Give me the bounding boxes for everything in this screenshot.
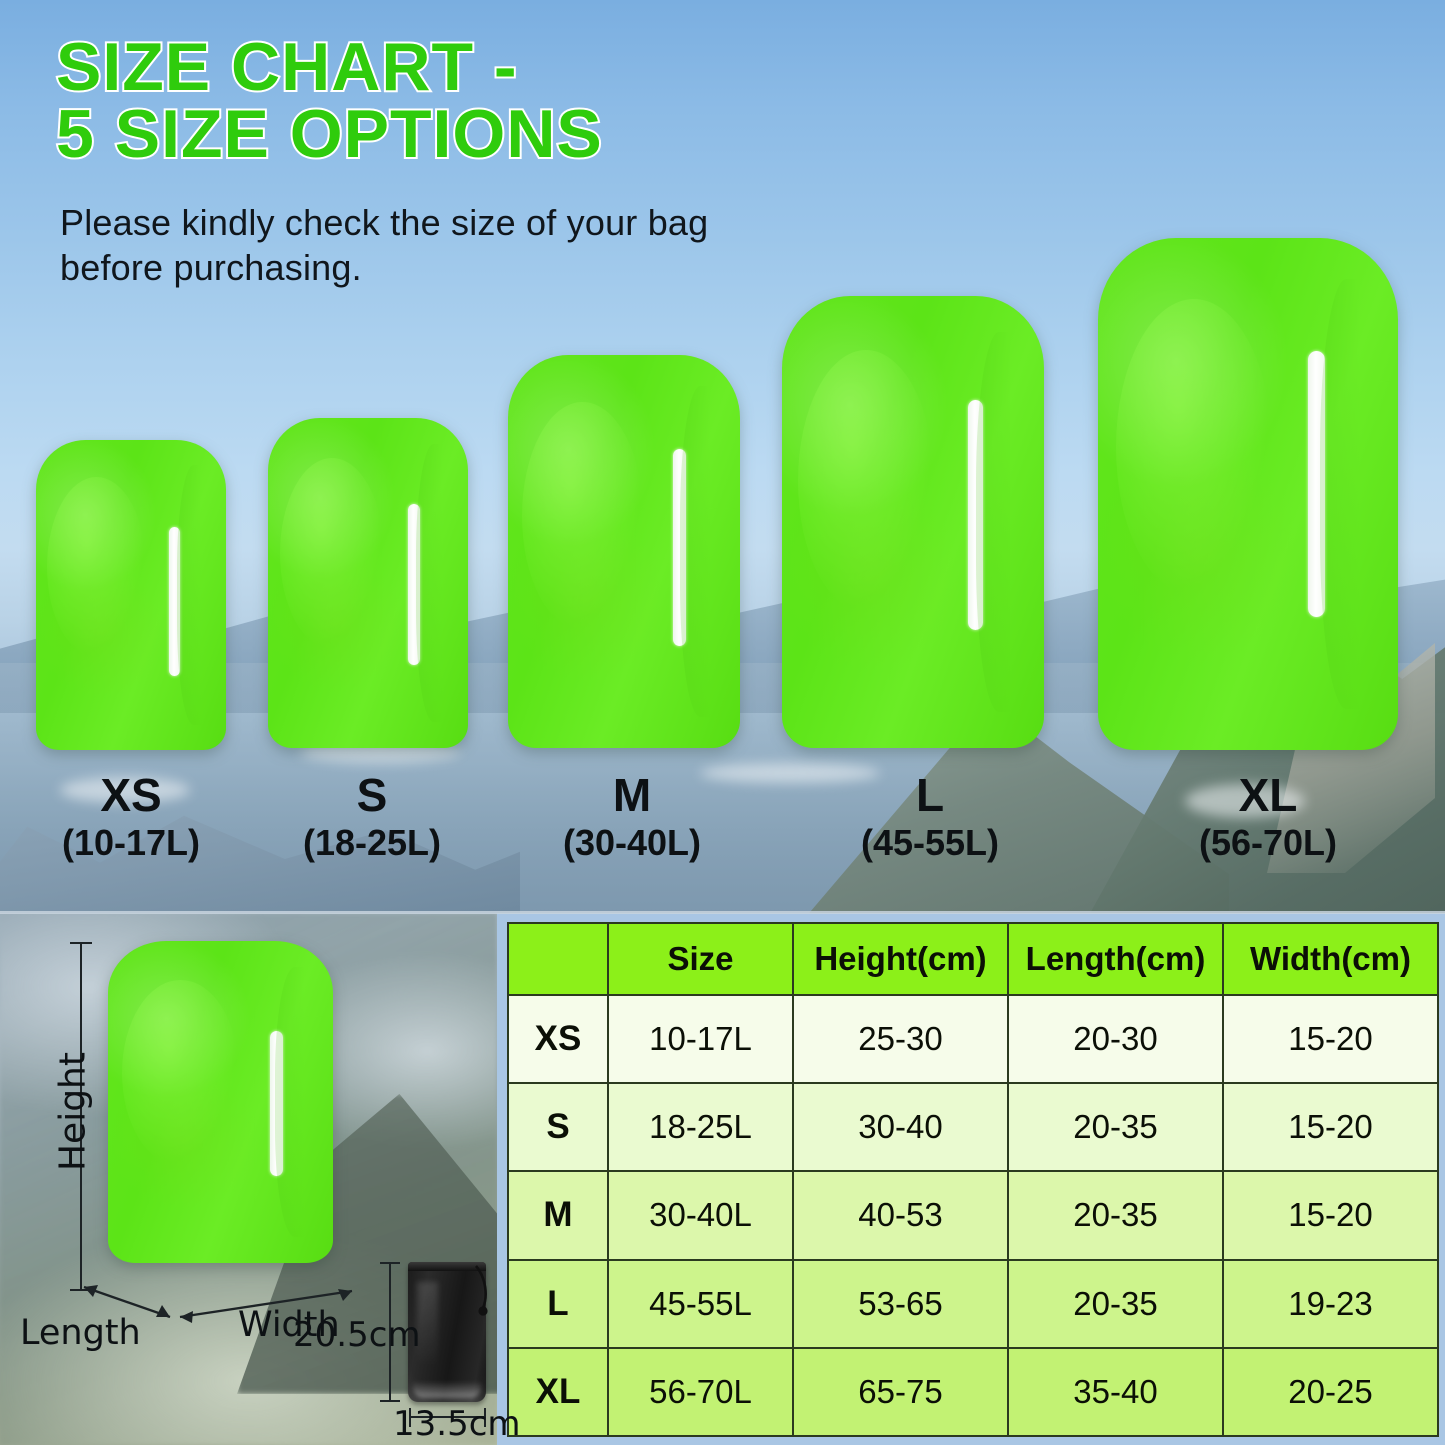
- cell-width: 19-23: [1223, 1260, 1438, 1348]
- cell-length: 35-40: [1008, 1348, 1223, 1436]
- height-dimension-tick-bottom: [70, 1289, 92, 1291]
- reflective-strip-icon: [408, 504, 420, 666]
- table-header-width: Width(cm): [1223, 923, 1438, 995]
- backpack-cover-m: [508, 355, 740, 748]
- size-caption-xs: XS (10-17L): [31, 772, 231, 862]
- size-label: S: [272, 772, 472, 818]
- cell-width: 15-20: [1223, 995, 1438, 1083]
- reflective-strip-icon: [169, 527, 180, 676]
- table-header-length: Length(cm): [1008, 923, 1223, 995]
- table-header-corner: [508, 923, 608, 995]
- table-row: XS 10-17L 25-30 20-30 15-20: [508, 995, 1438, 1083]
- cell-size: 10-17L: [608, 995, 793, 1083]
- pouch-height-tick-top: [380, 1262, 400, 1264]
- cell-height: 65-75: [793, 1348, 1008, 1436]
- title-line-1: SIZE CHART -: [56, 34, 603, 101]
- reflective-strip-icon: [968, 400, 983, 631]
- cell-length: 20-35: [1008, 1260, 1223, 1348]
- table-header-row: Size Height(cm) Length(cm) Width(cm): [508, 923, 1438, 995]
- size-label: XL: [1168, 772, 1368, 818]
- reflective-strip-icon: [270, 1031, 283, 1176]
- height-dimension-tick-top: [70, 942, 92, 944]
- size-caption-s: S (18-25L): [272, 772, 472, 862]
- cell-height: 40-53: [793, 1171, 1008, 1259]
- row-label-xl: XL: [508, 1348, 608, 1436]
- size-label: XS: [31, 772, 231, 818]
- size-caption-xl: XL (56-70L): [1168, 772, 1368, 862]
- table-body: XS 10-17L 25-30 20-30 15-20 S 18-25L 30-…: [508, 995, 1438, 1436]
- subtitle-line-2: before purchasing.: [60, 245, 708, 290]
- table-header-height: Height(cm): [793, 923, 1008, 995]
- table-row: XL 56-70L 65-75 35-40 20-25: [508, 1348, 1438, 1436]
- subtitle: Please kindly check the size of your bag…: [60, 200, 708, 291]
- size-label: M: [532, 772, 732, 818]
- size-chart-infographic: SIZE CHART - 5 SIZE OPTIONS Please kindl…: [0, 0, 1445, 1445]
- size-caption-m: M (30-40L): [532, 772, 732, 862]
- cell-size: 45-55L: [608, 1260, 793, 1348]
- capacity-label: (30-40L): [532, 824, 732, 862]
- table-header-size: Size: [608, 923, 793, 995]
- table-row: L 45-55L 53-65 20-35 19-23: [508, 1260, 1438, 1348]
- table-row: S 18-25L 30-40 20-35 15-20: [508, 1083, 1438, 1171]
- pouch-width-label: 13.5cm: [393, 1404, 521, 1444]
- cell-width: 15-20: [1223, 1171, 1438, 1259]
- backpack-cover-xl: [1098, 238, 1398, 750]
- panel-divider: [0, 911, 1445, 914]
- length-dimension-label: Length: [20, 1313, 141, 1353]
- size-caption-l: L (45-55L): [830, 772, 1030, 862]
- size-table: Size Height(cm) Length(cm) Width(cm) XS …: [507, 922, 1439, 1437]
- cell-length: 20-35: [1008, 1083, 1223, 1171]
- height-dimension-label: Height: [53, 1037, 94, 1187]
- subtitle-line-1: Please kindly check the size of your bag: [60, 200, 708, 245]
- capacity-label: (45-55L): [830, 824, 1030, 862]
- cell-width: 20-25: [1223, 1348, 1438, 1436]
- backpack-cover-xs: [36, 440, 226, 750]
- reflective-strip-icon: [1308, 351, 1325, 617]
- cell-height: 30-40: [793, 1083, 1008, 1171]
- pouch-drawstring-cord-icon: [470, 1262, 550, 1342]
- cell-length: 20-30: [1008, 995, 1223, 1083]
- pouch-height-label: 20.5cm: [293, 1315, 421, 1355]
- cell-height: 53-65: [793, 1260, 1008, 1348]
- table-row: M 30-40L 40-53 20-35 15-20: [508, 1171, 1438, 1259]
- cell-width: 15-20: [1223, 1083, 1438, 1171]
- cell-height: 25-30: [793, 995, 1008, 1083]
- size-label: L: [830, 772, 1030, 818]
- row-label-m: M: [508, 1171, 608, 1259]
- cell-size: 18-25L: [608, 1083, 793, 1171]
- table-header: Size Height(cm) Length(cm) Width(cm): [508, 923, 1438, 995]
- reflective-strip-icon: [673, 449, 686, 646]
- pouch-height-tick-bottom: [380, 1400, 400, 1402]
- row-label-xs: XS: [508, 995, 608, 1083]
- row-label-s: S: [508, 1083, 608, 1171]
- cell-length: 20-35: [1008, 1171, 1223, 1259]
- page-title: SIZE CHART - 5 SIZE OPTIONS: [56, 34, 603, 167]
- capacity-label: (18-25L): [272, 824, 472, 862]
- title-line-2: 5 SIZE OPTIONS: [56, 101, 603, 168]
- capacity-label: (10-17L): [31, 824, 231, 862]
- pouch-bottom-highlight: [413, 1381, 482, 1398]
- backpack-cover-measured: [108, 941, 333, 1263]
- backpack-cover-s: [268, 418, 468, 748]
- cell-size: 30-40L: [608, 1171, 793, 1259]
- backpack-cover-l: [782, 296, 1044, 748]
- capacity-label: (56-70L): [1168, 824, 1368, 862]
- cell-size: 56-70L: [608, 1348, 793, 1436]
